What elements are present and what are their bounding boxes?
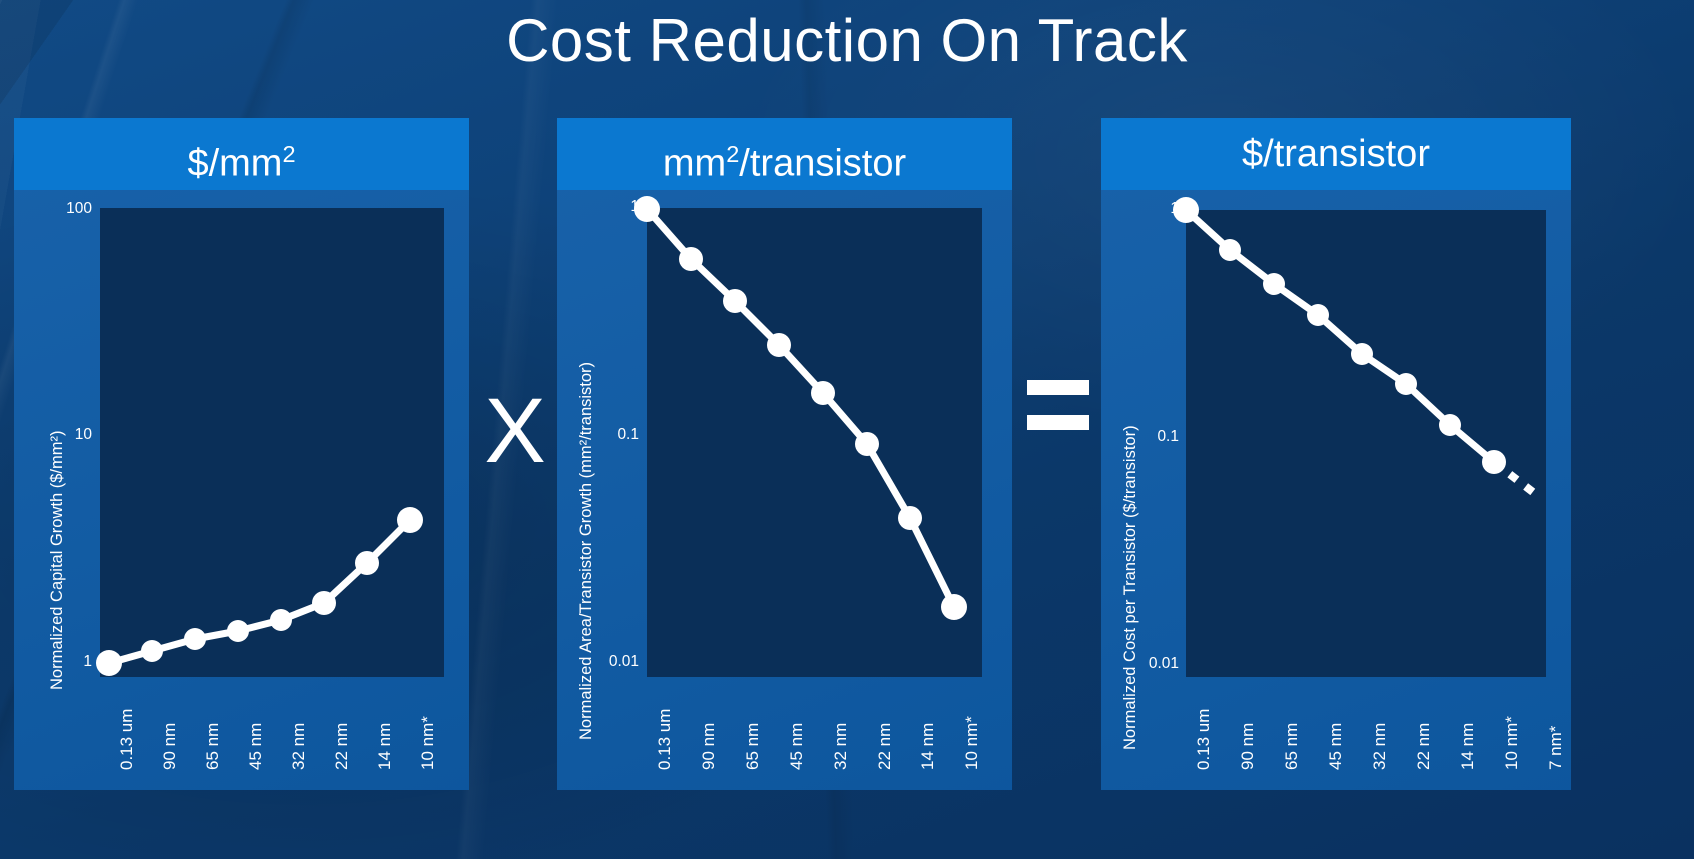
line-chart-svg — [14, 190, 469, 750]
data-point — [96, 650, 122, 676]
x-axis-tick: 90 nm — [1238, 723, 1258, 770]
data-point — [723, 289, 747, 313]
data-point — [397, 507, 423, 533]
data-point — [141, 640, 163, 662]
panel-header-text: mm — [663, 143, 726, 185]
data-point — [1263, 273, 1285, 295]
x-axis-tick: 32 nm — [831, 723, 851, 770]
x-axis-tick: 7 nm* — [1546, 726, 1566, 770]
operator-equals — [1012, 380, 1104, 430]
x-axis-tick: 10 nm* — [418, 716, 438, 770]
data-point — [898, 506, 922, 530]
x-axis-tick: 32 nm — [289, 723, 309, 770]
data-point — [312, 591, 336, 615]
data-point — [1395, 373, 1417, 395]
x-axis-tick: 10 nm* — [962, 716, 982, 770]
plot-wrap: Normalized Area/Transistor Growth (mm²/t… — [557, 190, 1012, 790]
data-point — [855, 432, 879, 456]
plot-wrap: Normalized Capital Growth ($/mm²) 100 10… — [14, 190, 469, 790]
x-axis-tick: 22 nm — [332, 723, 352, 770]
x-axis-tick: 22 nm — [875, 723, 895, 770]
line-chart-svg — [557, 190, 1012, 750]
x-axis-tick: 90 nm — [160, 723, 180, 770]
x-axis-tick: 65 nm — [203, 723, 223, 770]
x-axis-tick: 45 nm — [787, 723, 807, 770]
panel-header-title: mm2/transistor — [557, 118, 1012, 190]
x-axis-tick: 65 nm — [743, 723, 763, 770]
x-axis-tick: 0.13 um — [1194, 709, 1214, 770]
data-point — [1219, 239, 1241, 261]
x-axis-tick: 10 nm* — [1502, 716, 1522, 770]
x-axis-tick: 32 nm — [1370, 723, 1390, 770]
x-axis-tick: 45 nm — [246, 723, 266, 770]
x-axis-tick: 90 nm — [699, 723, 719, 770]
data-point — [1307, 304, 1329, 326]
panel-header-rest: /transistor — [739, 143, 906, 185]
page-title: Cost Reduction On Track — [0, 2, 1694, 80]
data-point — [634, 196, 660, 222]
panel-header-title: $/transistor — [1101, 118, 1571, 190]
chart-panel-cost-per-mm2: $/mm2 Normalized Capital Growth ($/mm²) … — [14, 118, 469, 790]
x-axis-tick: 14 nm — [1458, 723, 1478, 770]
data-point — [184, 628, 206, 650]
chart-panel-area-per-transistor: mm2/transistor Normalized Area/Transisto… — [557, 118, 1012, 790]
data-point — [767, 333, 791, 357]
data-point — [1173, 197, 1199, 223]
operator-multiply: X — [470, 385, 560, 477]
x-axis-tick: 0.13 um — [655, 709, 675, 770]
x-axis-tick: 14 nm — [375, 723, 395, 770]
x-axis-tick: 0.13 um — [117, 709, 137, 770]
x-axis-tick: 45 nm — [1326, 723, 1346, 770]
data-point — [1351, 343, 1373, 365]
chart-panel-cost-per-transistor: $/transistor Normalized Cost per Transis… — [1101, 118, 1571, 790]
x-axis-tick: 14 nm — [918, 723, 938, 770]
data-point — [227, 620, 249, 642]
data-point — [1439, 414, 1461, 436]
panel-header-text: $/mm — [187, 143, 282, 185]
data-point — [679, 247, 703, 271]
equals-bar-bottom — [1027, 415, 1089, 430]
x-axis-tick: 22 nm — [1414, 723, 1434, 770]
panel-header-title: $/mm2 — [14, 118, 469, 190]
data-point — [270, 609, 292, 631]
panel-header-superscript: 2 — [282, 141, 295, 167]
panel-header-superscript: 2 — [726, 141, 739, 167]
plot-wrap: Normalized Cost per Transistor ($/transi… — [1101, 190, 1571, 790]
data-point — [355, 551, 379, 575]
data-point — [1482, 450, 1506, 474]
data-point — [941, 594, 967, 620]
equals-bar-top — [1027, 380, 1089, 395]
line-chart-svg — [1101, 190, 1571, 750]
x-axis-tick: 65 nm — [1282, 723, 1302, 770]
data-point — [811, 381, 835, 405]
